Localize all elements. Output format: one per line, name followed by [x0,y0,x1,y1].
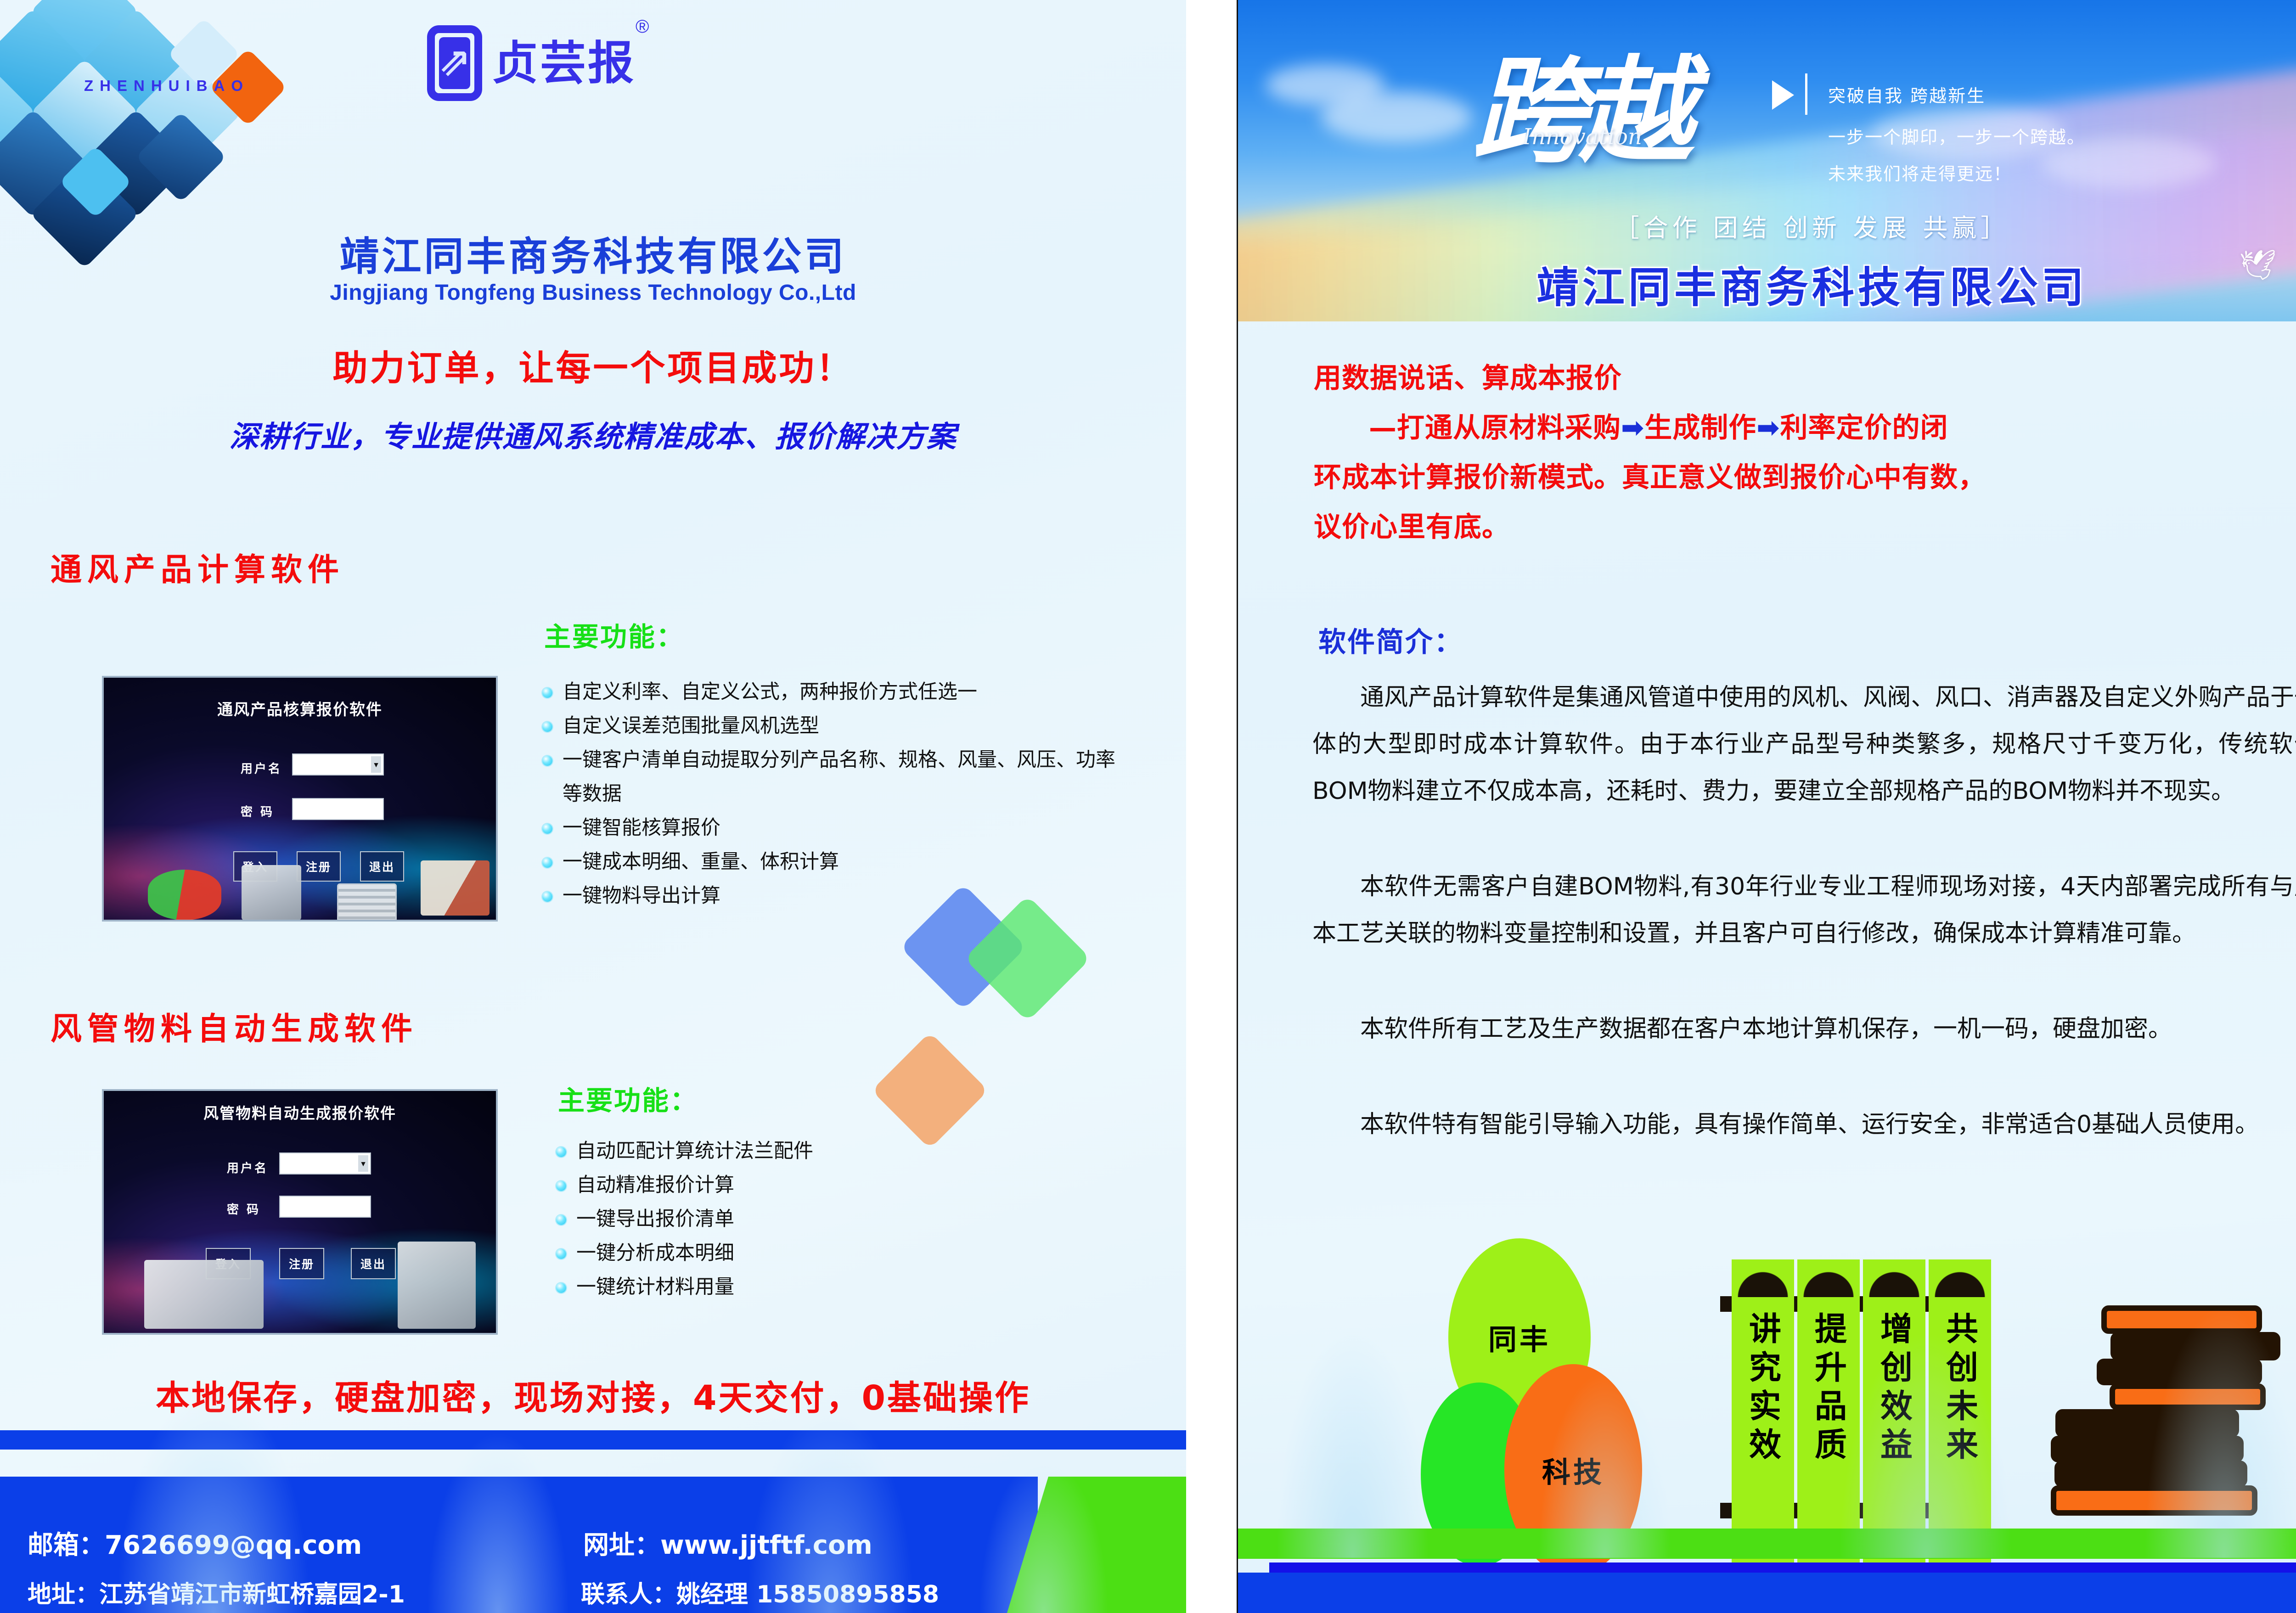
brand-logo: ⇗ 贞芸报® [427,25,649,101]
logo-cn-text: 贞芸报 [492,36,636,90]
blue-footer-band [1238,1573,2296,1613]
screenshot2-password-label: 密 码 [227,1200,260,1217]
slogan-red: 助力订单，让每一个项目成功！ [0,340,1186,390]
software-screenshot-ventilation: 通风产品核算报价软件 用户名 ▼ 密 码 登入 注册 退出 [102,676,498,922]
scroll-text: 讲究实效 [1740,1312,1786,1466]
company-name-cn: 靖江同丰商务科技有限公司 [0,224,1186,281]
scroll-ornament-icon [1803,1265,1854,1297]
air-grille-product-icon [337,883,397,922]
scroll-ornament-icon [1935,1265,1985,1297]
hero-slogan-line2: 一步一个脚印，一步一个跨越。 [1828,123,2085,148]
intro-paragraph: 本软件无需客户自建BOM物料,有30年行业专业工程师现场对接，4天内部署完成所有… [1312,863,2296,957]
section2-title: 风管物料自动生成软件 [51,1003,418,1049]
list-item: 自定义利率、自定义公式，两种报价方式任选一 [540,675,1127,709]
contact-email[interactable]: 邮箱：7626699@qq.com [28,1524,362,1562]
headline-line2-a: —打通从原材料采购 [1369,412,1621,444]
list-item: 一键统计材料用量 [553,1270,1081,1304]
screenshot1-password-label: 密 码 [241,803,274,820]
section1-feature-list: 自定义利率、自定义公式，两种报价方式任选一 自定义误差范围批量风机选型 一键客户… [540,675,1127,913]
screenshot2-register-button[interactable]: 注册 [279,1248,324,1279]
duct-product-icon [421,860,490,916]
section2-feature-list: 自动匹配计算统计法兰配件 自动精准报价计算 一键导出报价清单 一键分析成本明细 … [553,1134,1081,1304]
scroll-banner: 增创效益 [1863,1259,1925,1613]
list-item: 一键成本明细、重量、体积计算 [540,845,1127,879]
screenshot1-password-input[interactable] [292,798,384,820]
screenshot1-register-button[interactable]: 注册 [297,851,341,882]
bottom-claim-text: 本地保存，硬盘加密，现场对接，4天交付，0基础操作 [0,1371,1186,1420]
scroll-banner: 共创未来 [1929,1259,1991,1613]
intro-title: 软件简介： [1318,620,1463,660]
hero-banner: 跨越 Innovation 突破自我 跨越新生 一步一个脚印，一步一个跨越。 未… [1238,0,2296,321]
screenshot2-username-label: 用户名 [227,1159,268,1176]
intro-paragraph: 本软件特有智能引导输入功能，具有操作简单、运行安全，非常适合0基础人员使用。 [1312,1101,2296,1148]
right-poster-panel: 跨越 Innovation 突破自我 跨越新生 一步一个脚印，一步一个跨越。 未… [1237,0,2296,1613]
screenshot1-title: 通风产品核算报价软件 [104,697,496,719]
list-item: 自定义误差范围批量风机选型 [540,709,1127,743]
poster-canvas: ⇗ 贞芸报® ZHENHUIBAO 靖江同丰商务科技有限公司 Jingjiang… [0,0,2296,1613]
screenshot2-password-input[interactable] [279,1196,371,1218]
contact-address: 地址：江苏省靖江市新虹桥嘉园2-1 [28,1575,405,1609]
list-item: 一键分析成本明细 [553,1236,1081,1270]
headline-line3: 环成本计算报价新模式。真正意义做到报价心中有数， [1314,453,2296,502]
intro-paragraph: 本软件所有工艺及生产数据都在客户本地计算机保存，一机一码，硬盘加密。 [1312,1006,2296,1052]
list-item: 自动匹配计算统计法兰配件 [553,1134,1081,1168]
screenshot2-title: 风管物料自动生成报价软件 [104,1101,496,1123]
hero-slogan-line3: 未来我们将走得更远！ [1828,160,2012,185]
contact-website[interactable]: 网址：www.jjtftf.com [583,1524,872,1562]
screenshot1-username-input[interactable]: ▼ [292,753,384,776]
list-item: 一键客户清单自动提取分列产品名称、规格、风量、风压、功率等数据 [540,743,1127,811]
axial-fan-product-icon [148,870,221,920]
company-name-en: Jingjiang Tongfeng Business Technology C… [0,280,1186,305]
silencer-product-icon [242,865,301,920]
z-arrow-logo-icon: ⇗ [427,25,482,101]
hero-kua-calligraphy: 跨越 [1472,18,1685,185]
hero-slogan-line1: 突破自我 跨越新生 [1828,82,1986,107]
screenshot1-exit-button[interactable]: 退出 [360,851,404,882]
intro-paragraph: 通风产品计算软件是集通风管道中使用的风机、风阀、风口、消声器及自定义外购产品于一… [1312,674,2296,815]
software-screenshot-duct: 风管物料自动生成报价软件 用户名 ▼ 密 码 登入 注册 退出 [102,1089,498,1335]
list-item: 一键导出报价清单 [553,1202,1081,1236]
hero-innovation-text: Innovation [1523,124,1642,150]
scroll-text: 共创未来 [1937,1312,1983,1466]
registered-mark-icon: ® [636,17,649,37]
logo-en-text: ZHENHUIBAO [84,77,249,95]
headline-line4: 议价心里有底。 [1314,502,2296,552]
duct-elbow-product-icon [398,1242,476,1329]
scroll-ornament-icon [1869,1265,1919,1297]
scroll-ornament-icon [1738,1265,1788,1297]
headline-line2-c: 利率定价的闭 [1780,412,1948,444]
seagull-icon: 🕊 [2239,248,2276,282]
orange-diamond-decoration-icon [872,1032,989,1149]
headline-line2-b: 生成制作 [1644,412,1756,444]
section2-features-heading: 主要功能： [558,1079,698,1118]
scroll-banner: 讲究实效 [1732,1259,1794,1613]
arrow-right-icon: ➡ [1621,412,1644,444]
list-item: 自动精准报价计算 [553,1168,1081,1202]
slogan-blue: 深耕行业，专业提供通风系统精准成本、报价解决方案 [32,413,1154,455]
scroll-text: 提升品质 [1806,1312,1852,1466]
hero-company-name: 靖江同丰商务科技有限公司 [1238,253,2296,315]
screenshot2-exit-button[interactable]: 退出 [351,1248,396,1279]
play-triangle-icon [1772,80,1794,110]
arrow-right-icon: ➡ [1756,412,1780,444]
section1-features-heading: 主要功能： [544,615,684,654]
screenshot2-username-input[interactable]: ▼ [279,1152,371,1175]
list-item: 一键智能核算报价 [540,811,1127,845]
rect-duct-product-icon [144,1260,264,1329]
screenshot1-username-label: 用户名 [241,759,282,776]
hero-values-text: ［合作 团结 创新 发展 共赢］ [1238,208,2296,244]
hero-divider-line [1805,73,1807,115]
green-ground-band [1238,1529,2296,1559]
contact-person: 联系人：姚经理 15850895858 [581,1575,939,1609]
blue-divider-bar [0,1430,1186,1450]
scroll-banner: 提升品质 [1797,1259,1860,1613]
section1-title: 通风产品计算软件 [51,544,344,590]
left-poster-panel: ⇗ 贞芸报® ZHENHUIBAO 靖江同丰商务科技有限公司 Jingjiang… [0,0,1186,1613]
scroll-text: 增创效益 [1871,1312,1918,1466]
headline-line1: 用数据说话、算成本报价 [1314,354,2296,403]
